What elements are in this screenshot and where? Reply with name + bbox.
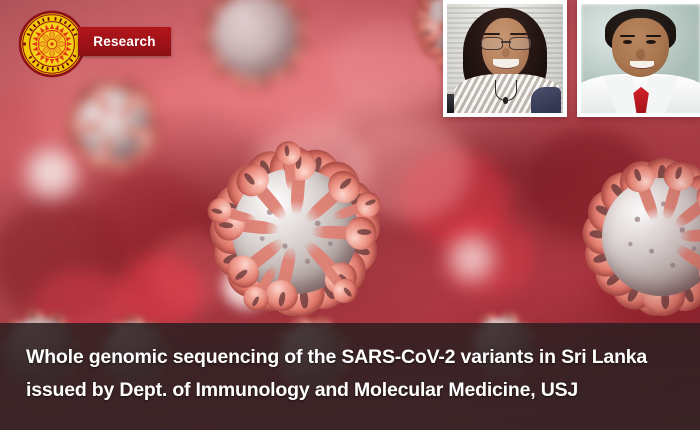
eyeglasses: [481, 37, 531, 48]
portrait-researcher-right[interactable]: [577, 0, 700, 117]
portrait-right-photo: [581, 4, 700, 113]
university-emblem-icon: [18, 10, 86, 78]
caption-line-2: issued by Dept. of Immunology and Molecu…: [26, 374, 674, 407]
caption-overlay: Whole genomic sequencing of the SARS-CoV…: [0, 323, 700, 430]
research-category-badge[interactable]: Research: [78, 27, 171, 56]
research-badge-label: Research: [93, 34, 155, 49]
research-news-banner: Research: [0, 0, 700, 430]
portrait-left-photo: [447, 4, 563, 113]
portrait-researcher-left[interactable]: [443, 0, 567, 117]
university-logo[interactable]: [18, 10, 86, 78]
caption-line-1: Whole genomic sequencing of the SARS-CoV…: [26, 341, 674, 374]
